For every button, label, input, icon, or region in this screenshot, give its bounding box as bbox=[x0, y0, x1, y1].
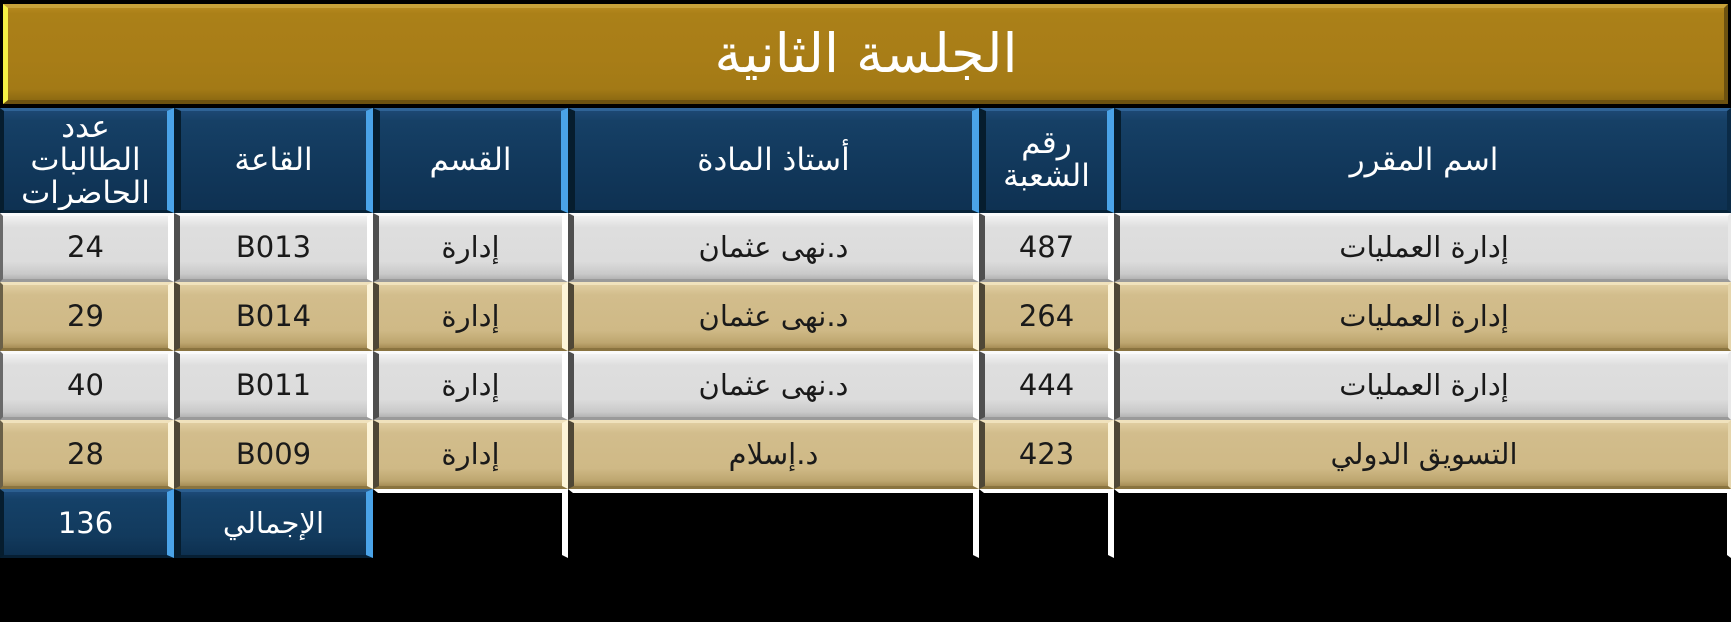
cell-professor: د.نهى عثمان bbox=[568, 351, 979, 420]
cell-hall: B014 bbox=[174, 282, 373, 351]
column-header-professor-line-1: أستاذ المادة bbox=[575, 144, 972, 177]
total-cell-professor bbox=[568, 489, 979, 558]
column-header-course: اسم المقرر bbox=[1114, 108, 1731, 213]
cell-hall: B013 bbox=[174, 213, 373, 282]
table-row: إدارة العمليات 487 د.نهى عثمان إدارة B01… bbox=[0, 213, 1731, 282]
column-header-professor: أستاذ المادة bbox=[568, 108, 979, 213]
table-body: إدارة العمليات 487 د.نهى عثمان إدارة B01… bbox=[0, 213, 1731, 558]
cell-section: 487 bbox=[979, 213, 1114, 282]
slide-canvas: الجلسة الثانية اسم المقرر رقم الشعبة أست… bbox=[0, 0, 1731, 622]
cell-attendance-count: 28 bbox=[0, 420, 174, 489]
column-header-course-line-1: اسم المقرر bbox=[1121, 144, 1727, 177]
schedule-table: اسم المقرر رقم الشعبة أستاذ المادة القسم… bbox=[0, 108, 1731, 558]
cell-professor: د.نهى عثمان bbox=[568, 213, 979, 282]
column-header-section: رقم الشعبة bbox=[979, 108, 1114, 213]
column-header-hall: القاعة bbox=[174, 108, 373, 213]
cell-course: إدارة العمليات bbox=[1114, 351, 1731, 420]
cell-section: 264 bbox=[979, 282, 1114, 351]
column-header-department-line-1: القسم bbox=[380, 144, 561, 177]
cell-department: إدارة bbox=[373, 213, 568, 282]
table-row: التسويق الدولي 423 د.إسلام إدارة B009 28 bbox=[0, 420, 1731, 489]
cell-professor: د.إسلام bbox=[568, 420, 979, 489]
column-header-attendance-count-line-1: عدد الطالبات bbox=[4, 111, 167, 177]
table-row: إدارة العمليات 444 د.نهى عثمان إدارة B01… bbox=[0, 351, 1731, 420]
table-row: إدارة العمليات 264 د.نهى عثمان إدارة B01… bbox=[0, 282, 1731, 351]
cell-hall: B009 bbox=[174, 420, 373, 489]
total-label: الإجمالي bbox=[174, 489, 373, 558]
cell-section: 444 bbox=[979, 351, 1114, 420]
cell-hall: B011 bbox=[174, 351, 373, 420]
cell-department: إدارة bbox=[373, 282, 568, 351]
slide-title-bar: الجلسة الثانية bbox=[3, 4, 1728, 104]
cell-attendance-count: 40 bbox=[0, 351, 174, 420]
total-cell-department bbox=[373, 489, 568, 558]
header-row: اسم المقرر رقم الشعبة أستاذ المادة القسم… bbox=[0, 108, 1731, 213]
total-cell-section bbox=[979, 489, 1114, 558]
cell-department: إدارة bbox=[373, 420, 568, 489]
total-cell-course bbox=[1114, 489, 1731, 558]
cell-attendance-count: 24 bbox=[0, 213, 174, 282]
table-header: اسم المقرر رقم الشعبة أستاذ المادة القسم… bbox=[0, 108, 1731, 213]
cell-course: إدارة العمليات bbox=[1114, 213, 1731, 282]
cell-section: 423 bbox=[979, 420, 1114, 489]
cell-attendance-count: 29 bbox=[0, 282, 174, 351]
total-value: 136 bbox=[0, 489, 174, 558]
page-title: الجلسة الثانية bbox=[715, 26, 1018, 83]
cell-department: إدارة bbox=[373, 351, 568, 420]
total-row: الإجمالي 136 bbox=[0, 489, 1731, 558]
schedule-table-wrapper: اسم المقرر رقم الشعبة أستاذ المادة القسم… bbox=[0, 108, 1731, 622]
cell-course: التسويق الدولي bbox=[1114, 420, 1731, 489]
column-header-hall-line-1: القاعة bbox=[181, 144, 366, 177]
column-header-section-line-1: رقم bbox=[986, 127, 1107, 160]
column-header-attendance-count-line-2: الحاضرات bbox=[4, 177, 167, 210]
cell-professor: د.نهى عثمان bbox=[568, 282, 979, 351]
column-header-attendance-count: عدد الطالبات الحاضرات bbox=[0, 108, 174, 213]
column-header-department: القسم bbox=[373, 108, 568, 213]
column-header-section-line-2: الشعبة bbox=[986, 160, 1107, 193]
cell-course: إدارة العمليات bbox=[1114, 282, 1731, 351]
